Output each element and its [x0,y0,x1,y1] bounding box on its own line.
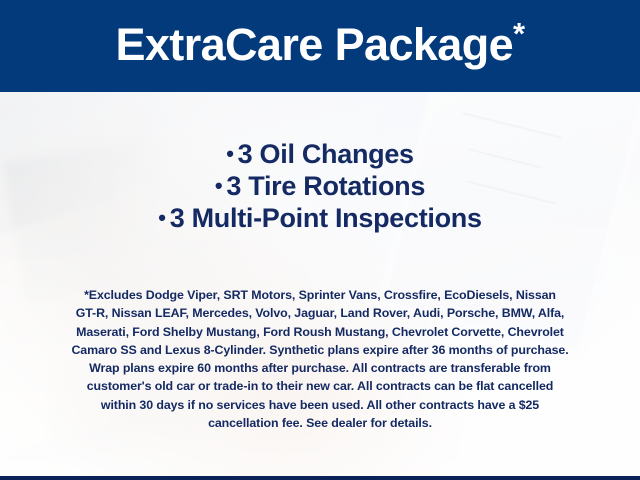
list-item: •3 Multi-Point Inspections [0,202,640,234]
bullet-icon: • [215,173,226,198]
list-item-label: 3 Oil Changes [238,139,414,169]
disclaimer-line: Wrap plans expire 60 months after purcha… [38,359,602,377]
page-title-text: ExtraCare Package [115,19,513,70]
page-title: ExtraCare Package* [115,22,524,70]
list-item: •3 Tire Rotations [0,170,640,202]
list-item: •3 Oil Changes [0,138,640,170]
banner-bottom-edge [0,476,640,480]
disclaimer-line: GT-R, Nissan LEAF, Mercedes, Volvo, Jagu… [38,304,602,322]
header-banner: ExtraCare Package* [0,0,640,92]
bullet-icon: • [226,141,237,166]
disclaimer-line: Camaro SS and Lexus 8-Cylinder. Syntheti… [38,341,602,359]
disclaimer-line: Maserati, Ford Shelby Mustang, Ford Rous… [38,323,602,341]
disclaimer-line: cancellation fee. See dealer for details… [38,414,602,432]
page-title-asterisk: * [513,16,524,51]
disclaimer-line: customer's old car or trade-in to their … [38,377,602,395]
disclaimer-line: *Excludes Dodge Viper, SRT Motors, Sprin… [38,286,602,304]
list-item-label: 3 Multi-Point Inspections [170,203,482,233]
extracare-package-ad: ExtraCare Package* •3 Oil Changes •3 Tir… [0,0,640,480]
list-item-label: 3 Tire Rotations [226,171,425,201]
benefits-list: •3 Oil Changes •3 Tire Rotations •3 Mult… [0,138,640,234]
disclaimer-text: *Excludes Dodge Viper, SRT Motors, Sprin… [38,286,602,432]
bullet-icon: • [158,205,169,230]
disclaimer-line: within 30 days if no services have been … [38,396,602,414]
